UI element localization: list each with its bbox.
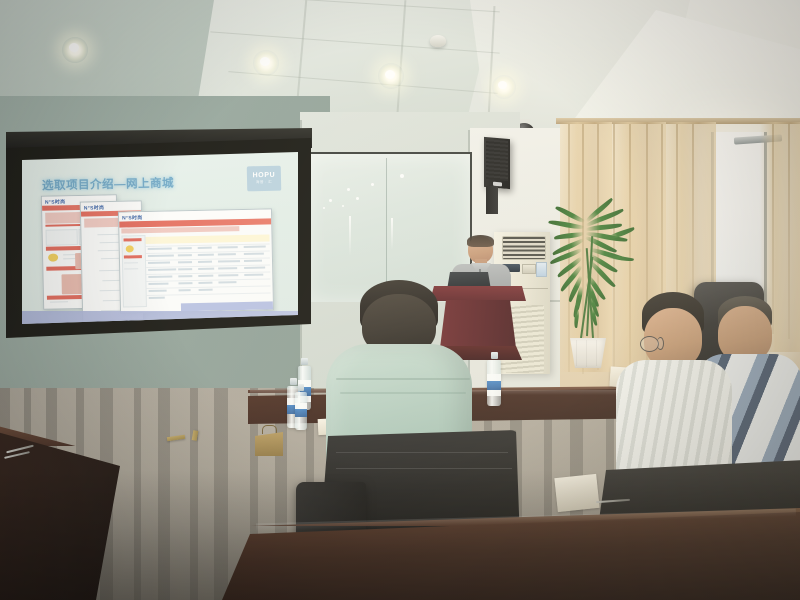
paper-sheet (554, 474, 599, 512)
pot-texture (596, 340, 597, 366)
whiteboard-mark (356, 197, 359, 200)
whiteboard-mark (400, 174, 404, 178)
chair-seam (336, 452, 508, 453)
downlight-icon (385, 70, 395, 79)
whiteboard-mark (371, 183, 374, 186)
shirt-crease (336, 378, 470, 380)
projected-slide: 选取项目介绍—网上商城 HOPU 海普 · 汇 N°S时尚 (22, 152, 298, 324)
logo-secondary-text: 海普 · 汇 (256, 180, 272, 185)
hopu-logo: HOPU 海普 · 汇 (247, 166, 282, 192)
pot-texture (576, 340, 577, 366)
whiteboard-mark (342, 205, 344, 207)
eyeglasses (657, 337, 664, 350)
conference-room-photo: 选取项目介绍—网上商城 HOPU 海普 · 汇 N°S时尚 (0, 0, 800, 600)
chair-seam (336, 468, 512, 469)
whiteboard-mark (347, 188, 350, 191)
screenshot-brand-label: N°S时尚 (84, 204, 105, 211)
screenshot-brand-label: N°S时尚 (45, 198, 66, 205)
slide-screenshot-admin-table: N°S时尚 (118, 208, 274, 313)
ac-energy-label (536, 262, 547, 277)
whiteboard-seam (386, 158, 387, 298)
downlight-icon (260, 57, 270, 66)
wall-speaker (484, 137, 510, 189)
downlight-icon (69, 43, 79, 52)
screenshot-brand-label: N°S时尚 (122, 214, 143, 221)
whiteboard-mark (329, 199, 332, 202)
briefcase-handle (262, 425, 277, 434)
speaker-bracket (486, 186, 498, 214)
whiteboard-mark (323, 207, 325, 209)
water-bottle[interactable] (487, 352, 501, 406)
water-bottle[interactable] (295, 384, 307, 430)
whiteboard-streak (391, 218, 393, 250)
smoke-detector-icon (430, 35, 446, 47)
shirt-crease (340, 392, 466, 394)
ac-control-panel[interactable] (522, 264, 536, 274)
pot-texture (586, 340, 587, 367)
attendee-right-glasses (628, 292, 732, 480)
attendee-shirt (616, 360, 732, 480)
slide-title: 选取项目介绍—网上商城 (42, 175, 174, 194)
presenter-hair (467, 235, 494, 247)
briefcase (255, 432, 283, 456)
whiteboard-streak (349, 216, 351, 256)
downlight-icon (498, 81, 507, 89)
